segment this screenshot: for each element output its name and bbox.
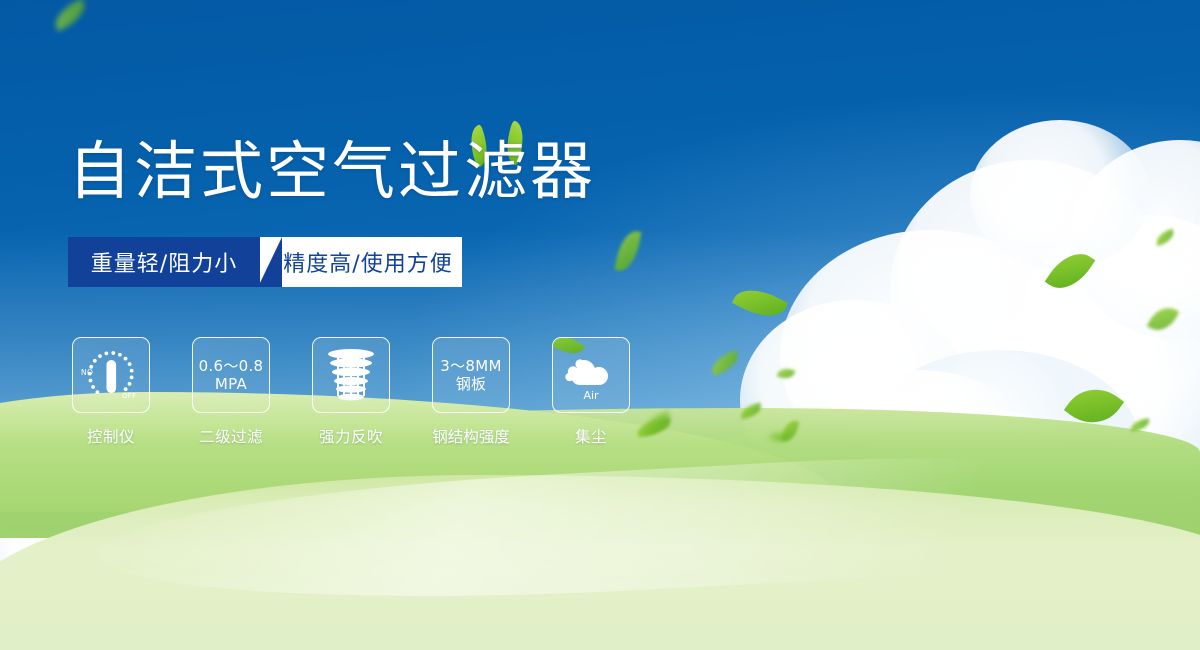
- pressure-line-1: 0.6～0.8: [199, 357, 264, 375]
- feature-icon-box: 3～8MM 钢板: [432, 337, 510, 413]
- feature-label: 控制仪: [87, 425, 135, 447]
- feature-icon-box: [312, 337, 390, 413]
- pressure-line-2: MPA: [199, 375, 264, 393]
- feature-item-pressure[interactable]: 0.6～0.8 MPA 二级过滤: [188, 337, 274, 447]
- feature-label: 集尘: [575, 425, 607, 447]
- feature-item-dust-collection[interactable]: Air 集尘: [548, 337, 634, 447]
- feature-label: 二级过滤: [199, 425, 263, 447]
- subtitle-left-segment: 重量轻/阻力小: [68, 237, 260, 287]
- feature-label: 钢结构强度: [432, 425, 510, 447]
- feature-icon-box: NO OFF: [72, 337, 150, 413]
- pressure-text-icon: 0.6～0.8 MPA: [199, 357, 264, 394]
- air-label: Air: [583, 389, 599, 402]
- product-hero-banner: 自洁式空气过滤器 重量轻/阻力小 精度高/使用方便: [0, 0, 1200, 650]
- svg-text:OFF: OFF: [122, 392, 136, 400]
- feature-item-backflush[interactable]: 强力反吹: [308, 337, 394, 447]
- steel-line-1: 3～8MM: [440, 357, 501, 375]
- subtitle-bar: 重量轻/阻力小 精度高/使用方便: [68, 237, 462, 287]
- grass-sunlight-overlay: [0, 530, 1200, 650]
- feature-label: 强力反吹: [319, 425, 383, 447]
- feature-item-steel-plate[interactable]: 3～8MM 钢板 钢结构强度: [428, 337, 514, 447]
- filter-coil-icon: [323, 346, 379, 404]
- feature-list: NO OFF 控制仪 0.6～0.8 MPA 二级过滤: [68, 337, 634, 447]
- feature-icon-box: 0.6～0.8 MPA: [192, 337, 270, 413]
- subtitle-right-segment: 精度高/使用方便: [260, 237, 462, 287]
- feature-icon-box: Air: [552, 337, 630, 413]
- air-cloud-icon: Air: [560, 346, 622, 404]
- page-title: 自洁式空气过滤器: [68, 140, 596, 203]
- feature-item-control-dial[interactable]: NO OFF 控制仪: [68, 337, 154, 447]
- steel-line-2: 钢板: [440, 375, 501, 393]
- svg-text:NO: NO: [81, 368, 93, 377]
- control-dial-icon: NO OFF: [78, 344, 144, 406]
- steel-plate-text-icon: 3～8MM 钢板: [440, 357, 501, 394]
